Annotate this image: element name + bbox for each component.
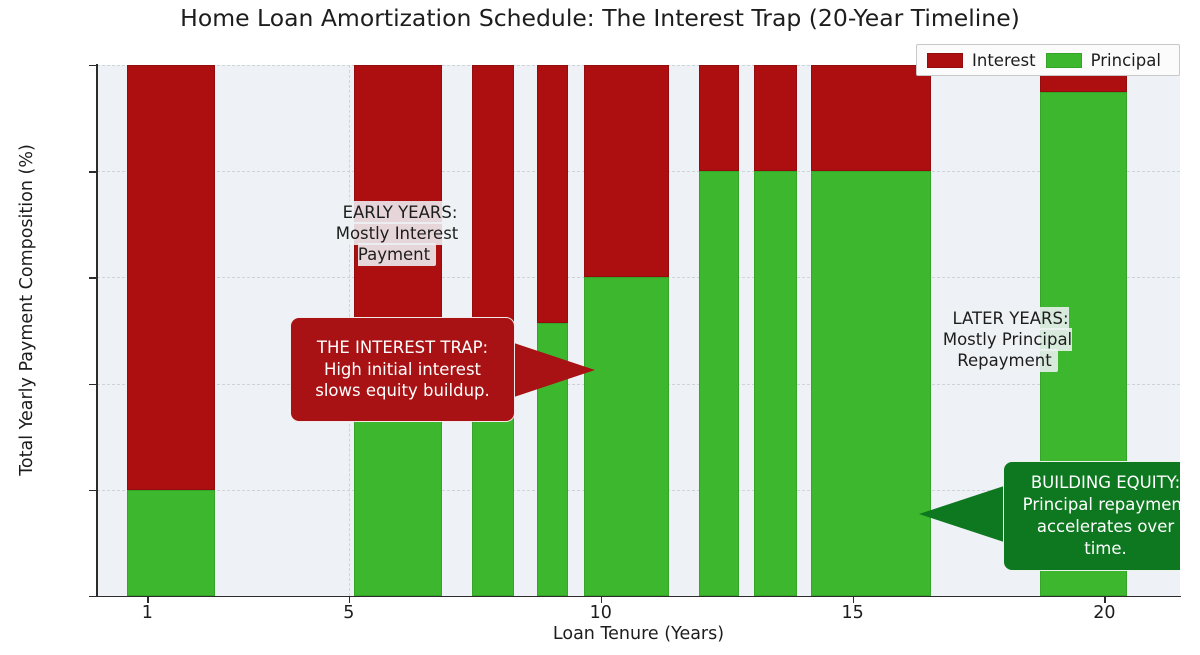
y-tick-mark-100 [89, 65, 96, 66]
x-tick-mark-20 [1104, 596, 1105, 603]
bar-segment-interest[interactable] [811, 65, 930, 171]
chart-figure: Home Loan Amortization Schedule: The Int… [0, 0, 1200, 655]
x-tick-label-5: 5 [319, 603, 379, 623]
annotation-early-years-text: EARLY YEARS: Mostly Interest Payment [336, 201, 459, 266]
bar-segment-principal[interactable] [811, 171, 930, 596]
bar-segment-principal[interactable] [127, 490, 215, 596]
callout-building-equity-tail [919, 485, 1007, 543]
plot-area: EARLY YEARS: Mostly Interest Payment LAT… [97, 65, 1180, 596]
bar-segment-principal[interactable] [584, 277, 669, 596]
annotation-early-years: EARLY YEARS: Mostly Interest Payment [312, 181, 482, 265]
legend-swatch-interest [927, 53, 963, 68]
bar-year-15[interactable] [811, 65, 930, 596]
y-tick-mark-20 [89, 490, 96, 491]
x-tick-mark-5 [349, 596, 350, 603]
bar-segment-interest[interactable] [584, 65, 669, 277]
bar-segment-interest[interactable] [754, 65, 797, 171]
y-tick-mark-80 [89, 171, 96, 172]
legend-item-interest[interactable]: Interest [927, 51, 1036, 70]
annotation-later-years-text: LATER YEARS: Mostly Principal Repayment [943, 307, 1072, 372]
y-tick-mark-0 [89, 596, 96, 597]
bar-segment-interest[interactable] [699, 65, 739, 171]
legend-label-principal: Principal [1091, 51, 1161, 70]
bar-year-12[interactable] [699, 65, 739, 596]
x-tick-mark-15 [853, 596, 854, 603]
bar-year-1[interactable] [127, 65, 215, 596]
callout-interest-trap: THE INTEREST TRAP: High initial interest… [290, 317, 515, 422]
x-tick-label-15: 15 [823, 603, 883, 623]
x-tick-mark-10 [601, 596, 602, 603]
bar-year-9[interactable] [584, 65, 669, 596]
callout-interest-trap-tail [511, 342, 595, 398]
y-axis-label: Total Yearly Payment Composition (%) [17, 40, 37, 580]
bar-segment-principal[interactable] [699, 171, 739, 596]
bar-year-8[interactable] [537, 65, 568, 596]
x-axis-line [96, 596, 1181, 598]
bar-segment-interest[interactable] [127, 65, 215, 490]
x-tick-label-10: 10 [571, 603, 631, 623]
y-axis-line [96, 64, 98, 597]
y-tick-mark-60 [89, 277, 96, 278]
bar-year-13[interactable] [754, 65, 797, 596]
callout-building-equity: BUILDING EQUITY: Principal repayment acc… [1003, 461, 1180, 571]
annotation-later-years: LATER YEARS: Mostly Principal Repayment [915, 287, 1100, 371]
bar-segment-interest[interactable] [537, 65, 568, 323]
y-tick-mark-40 [89, 384, 96, 385]
x-tick-label-1: 1 [117, 603, 177, 623]
legend-label-interest: Interest [972, 51, 1036, 70]
x-axis-label: Loan Tenure (Years) [97, 624, 1180, 644]
bar-segment-principal[interactable] [754, 171, 797, 596]
x-tick-label-20: 20 [1074, 603, 1134, 623]
legend-item-principal[interactable]: Principal [1046, 51, 1161, 70]
chart-title: Home Loan Amortization Schedule: The Int… [0, 4, 1200, 32]
chart-legend[interactable]: Interest Principal [916, 44, 1180, 76]
x-tick-mark-1 [147, 596, 148, 603]
legend-swatch-principal [1046, 53, 1082, 68]
